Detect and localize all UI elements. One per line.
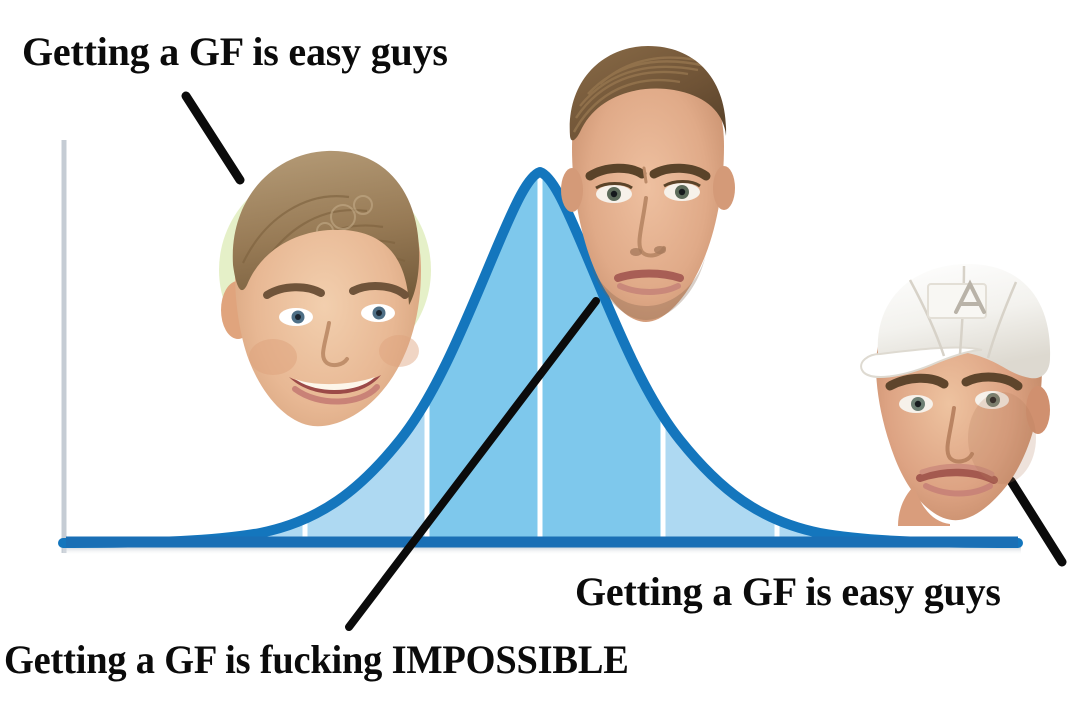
center-face-mouth <box>618 274 680 279</box>
caption-top-left: Getting a GF is easy guys <box>22 32 448 72</box>
center-face-ear-right <box>713 166 735 210</box>
right-face-cap-man <box>852 258 1070 526</box>
center-face-furrow <box>644 168 646 182</box>
right-face-shadow <box>968 392 1036 484</box>
left-face-cheek <box>249 339 297 375</box>
meme-canvas: Getting a GF is easy guys Getting a GF i… <box>0 0 1085 721</box>
center-face-nostril-left <box>630 248 642 256</box>
band-3-dark <box>427 160 540 550</box>
caption-bottom-right: Getting a GF is easy guys <box>575 572 1001 612</box>
center-face-ear-left <box>561 168 583 212</box>
left-face-cheek-right <box>379 335 419 367</box>
center-face-nostril-right <box>654 246 666 254</box>
left-face-smiling-man <box>203 145 438 430</box>
center-face-serious-man <box>556 40 738 332</box>
caption-bottom-left: Getting a GF is fucking IMPOSSIBLE <box>4 640 629 680</box>
